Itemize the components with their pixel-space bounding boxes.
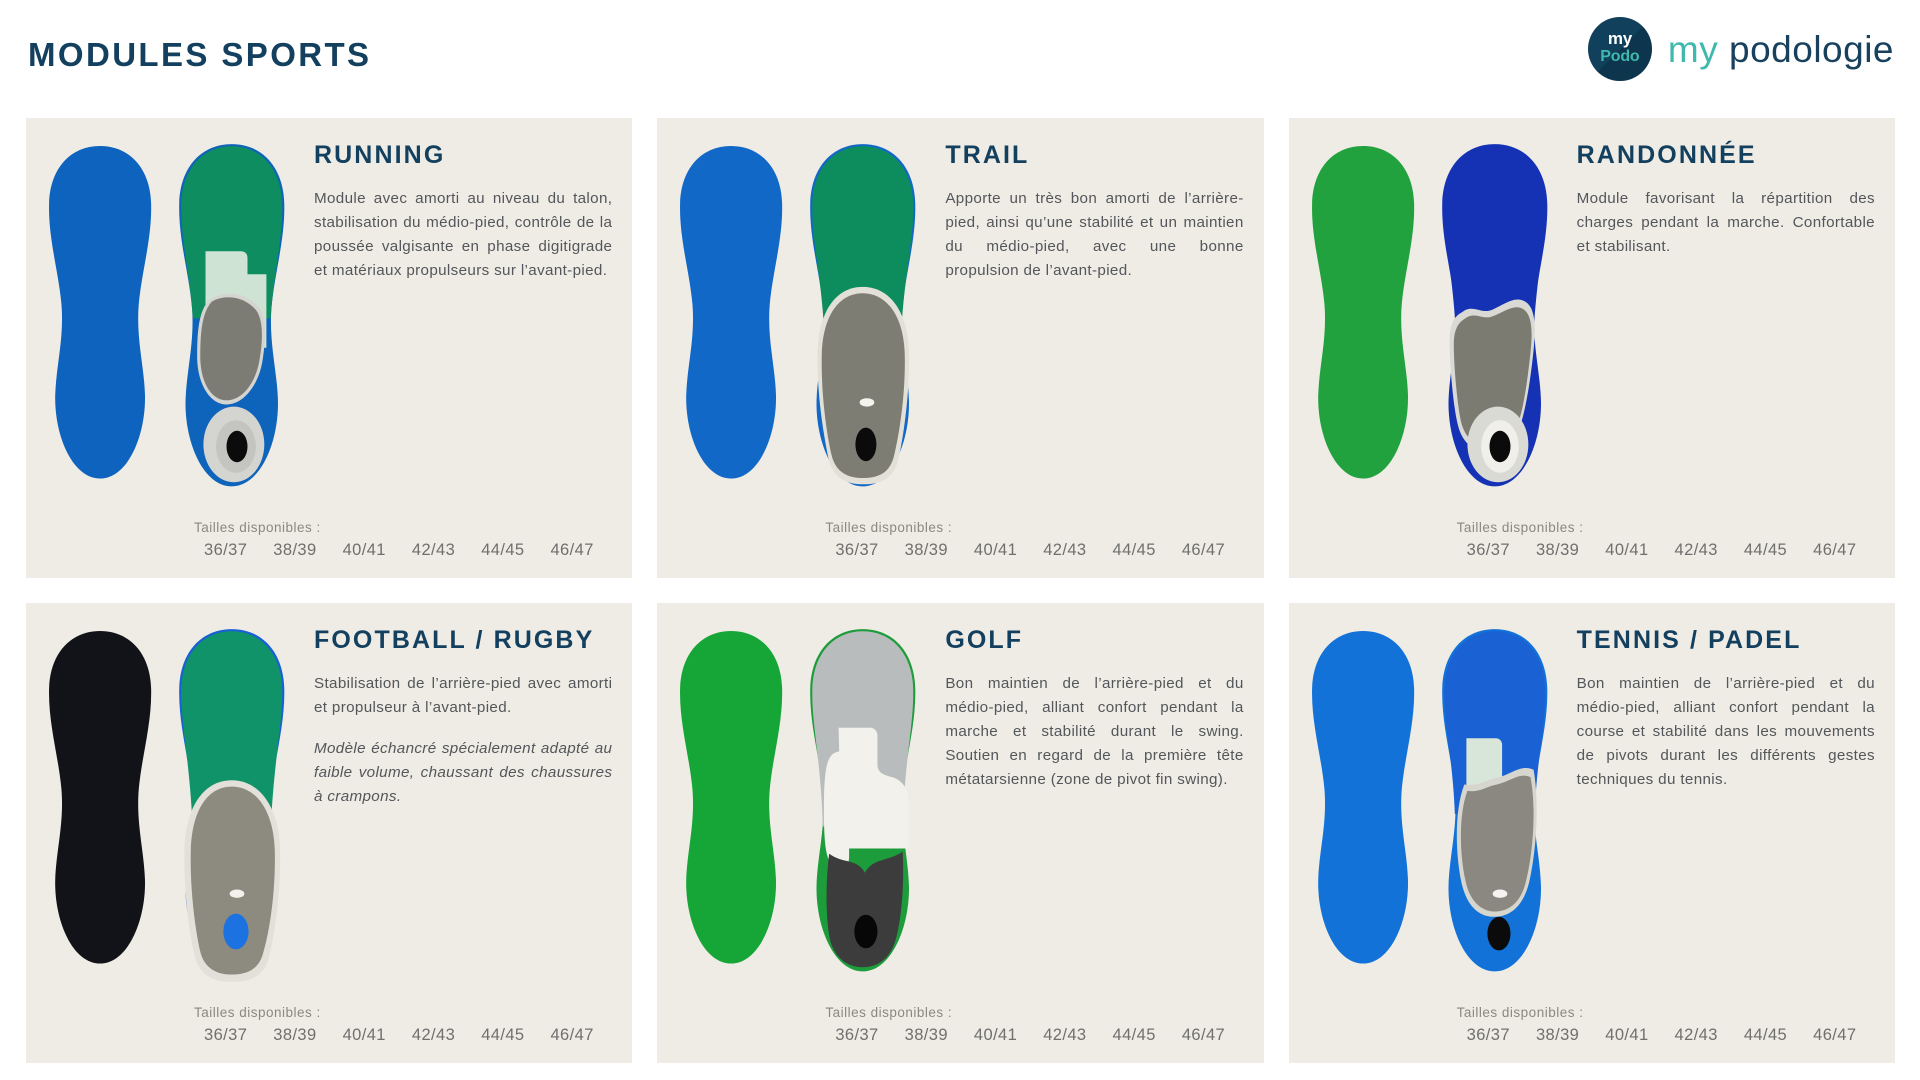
size-chip[interactable]: 46/47 — [550, 541, 593, 560]
size-chip[interactable]: 44/45 — [481, 541, 524, 560]
insole-illustration — [657, 118, 942, 518]
size-chip[interactable]: 44/45 — [1113, 1026, 1156, 1045]
sizes-row: 36/3738/3940/4142/4344/4546/47 — [825, 541, 1263, 560]
module-card[interactable]: RANDONNÉEModule favorisant la répartitio… — [1289, 118, 1895, 578]
size-chip[interactable]: 40/41 — [974, 1026, 1017, 1045]
logo-mark-bottom: Podo — [1588, 49, 1652, 65]
insole-illustration — [26, 118, 311, 518]
size-chip[interactable]: 44/45 — [481, 1026, 524, 1045]
size-chip[interactable]: 44/45 — [1113, 541, 1156, 560]
size-chip[interactable]: 36/37 — [204, 1026, 247, 1045]
size-chip[interactable]: 44/45 — [1744, 1026, 1787, 1045]
module-text-block: TENNIS / PADELBon maintien de l’arrière-… — [1577, 625, 1875, 792]
module-title: TRAIL — [945, 140, 1243, 171]
size-chip[interactable]: 42/43 — [1043, 1026, 1086, 1045]
brand-word-podologie: podologie — [1729, 29, 1894, 70]
logo-mark-top: my — [1588, 30, 1652, 47]
sizes-row: 36/3738/3940/4142/4344/4546/47 — [1457, 1026, 1895, 1045]
sizes-label: Tailles disponibles : — [825, 1005, 1263, 1020]
sizes-label: Tailles disponibles : — [1457, 520, 1895, 535]
brand-word-my: my — [1668, 29, 1718, 70]
insole-illustration — [1289, 118, 1574, 518]
sizes-label: Tailles disponibles : — [1457, 1005, 1895, 1020]
size-chip[interactable]: 46/47 — [1813, 541, 1856, 560]
sizes-row: 36/3738/3940/4142/4344/4546/47 — [194, 541, 632, 560]
poster-page: MODULES SPORTS my Podo my podologie — [0, 0, 1920, 1080]
available-sizes: Tailles disponibles :36/3738/3940/4142/4… — [657, 1005, 1263, 1045]
module-card[interactable]: GOLFBon maintien de l’arrière-pied et du… — [657, 603, 1263, 1063]
module-title: RANDONNÉE — [1577, 140, 1875, 171]
size-chip[interactable]: 36/37 — [1467, 541, 1510, 560]
module-card[interactable]: RUNNINGModule avec amorti au niveau du t… — [26, 118, 632, 578]
module-description: Stabilisation de l’arrière-pied avec amo… — [314, 672, 612, 720]
sizes-row: 36/3738/3940/4142/4344/4546/47 — [194, 1026, 632, 1045]
size-chip[interactable]: 46/47 — [1182, 1026, 1225, 1045]
available-sizes: Tailles disponibles :36/3738/3940/4142/4… — [1289, 1005, 1895, 1045]
size-chip[interactable]: 38/39 — [273, 541, 316, 560]
module-card[interactable]: FOOTBALL / RUGBYStabilisation de l’arriè… — [26, 603, 632, 1063]
available-sizes: Tailles disponibles :36/3738/3940/4142/4… — [26, 1005, 632, 1045]
module-text-block: GOLFBon maintien de l’arrière-pied et du… — [945, 625, 1243, 792]
available-sizes: Tailles disponibles :36/3738/3940/4142/4… — [657, 520, 1263, 560]
module-title: RUNNING — [314, 140, 612, 171]
size-chip[interactable]: 44/45 — [1744, 541, 1787, 560]
module-title: GOLF — [945, 625, 1243, 656]
insole-illustration — [657, 603, 942, 1003]
module-text-block: FOOTBALL / RUGBYStabilisation de l’arriè… — [314, 625, 612, 809]
page-title: MODULES SPORTS — [28, 36, 371, 74]
brand-wordmark: my podologie — [1668, 31, 1894, 68]
size-chip[interactable]: 36/37 — [204, 541, 247, 560]
size-chip[interactable]: 42/43 — [412, 541, 455, 560]
page-header: MODULES SPORTS my Podo my podologie — [0, 0, 1920, 118]
size-chip[interactable]: 40/41 — [974, 541, 1017, 560]
size-chip[interactable]: 38/39 — [905, 1026, 948, 1045]
module-card[interactable]: TENNIS / PADELBon maintien de l’arrière-… — [1289, 603, 1895, 1063]
size-chip[interactable]: 42/43 — [412, 1026, 455, 1045]
module-description: Module avec amorti au niveau du talon, s… — [314, 187, 612, 283]
size-chip[interactable]: 38/39 — [1536, 541, 1579, 560]
size-chip[interactable]: 36/37 — [835, 1026, 878, 1045]
size-chip[interactable]: 46/47 — [550, 1026, 593, 1045]
modules-grid: RUNNINGModule avec amorti au niveau du t… — [26, 118, 1895, 1063]
sizes-label: Tailles disponibles : — [825, 520, 1263, 535]
module-title: FOOTBALL / RUGBY — [314, 625, 612, 656]
module-card[interactable]: TRAILApporte un très bon amorti de l’arr… — [657, 118, 1263, 578]
module-text-block: RUNNINGModule avec amorti au niveau du t… — [314, 140, 612, 283]
size-chip[interactable]: 36/37 — [1467, 1026, 1510, 1045]
sizes-row: 36/3738/3940/4142/4344/4546/47 — [825, 1026, 1263, 1045]
size-chip[interactable]: 46/47 — [1182, 541, 1225, 560]
size-chip[interactable]: 40/41 — [1605, 541, 1648, 560]
size-chip[interactable]: 42/43 — [1675, 1026, 1718, 1045]
module-description-secondary: Modèle échancré spécialement adapté au f… — [314, 737, 612, 809]
insole-illustration — [1289, 603, 1574, 1003]
size-chip[interactable]: 40/41 — [343, 541, 386, 560]
mypodo-circle-icon: my Podo — [1588, 17, 1652, 81]
module-description: Bon maintien de l’arrière-pied et du méd… — [1577, 672, 1875, 792]
size-chip[interactable]: 38/39 — [905, 541, 948, 560]
size-chip[interactable]: 38/39 — [273, 1026, 316, 1045]
size-chip[interactable]: 36/37 — [835, 541, 878, 560]
brand-logo: my Podo my podologie — [1588, 17, 1894, 81]
sizes-label: Tailles disponibles : — [194, 520, 632, 535]
size-chip[interactable]: 38/39 — [1536, 1026, 1579, 1045]
module-description: Bon maintien de l’arrière-pied et du méd… — [945, 672, 1243, 792]
size-chip[interactable]: 42/43 — [1675, 541, 1718, 560]
size-chip[interactable]: 42/43 — [1043, 541, 1086, 560]
size-chip[interactable]: 46/47 — [1813, 1026, 1856, 1045]
module-description: Module favorisant la répartition des cha… — [1577, 187, 1875, 259]
size-chip[interactable]: 40/41 — [1605, 1026, 1648, 1045]
module-text-block: TRAILApporte un très bon amorti de l’arr… — [945, 140, 1243, 283]
available-sizes: Tailles disponibles :36/3738/3940/4142/4… — [26, 520, 632, 560]
sizes-label: Tailles disponibles : — [194, 1005, 632, 1020]
available-sizes: Tailles disponibles :36/3738/3940/4142/4… — [1289, 520, 1895, 560]
module-text-block: RANDONNÉEModule favorisant la répartitio… — [1577, 140, 1875, 259]
size-chip[interactable]: 40/41 — [343, 1026, 386, 1045]
sizes-row: 36/3738/3940/4142/4344/4546/47 — [1457, 541, 1895, 560]
module-title: TENNIS / PADEL — [1577, 625, 1875, 656]
module-description: Apporte un très bon amorti de l’arrière-… — [945, 187, 1243, 283]
insole-illustration — [26, 603, 311, 1003]
